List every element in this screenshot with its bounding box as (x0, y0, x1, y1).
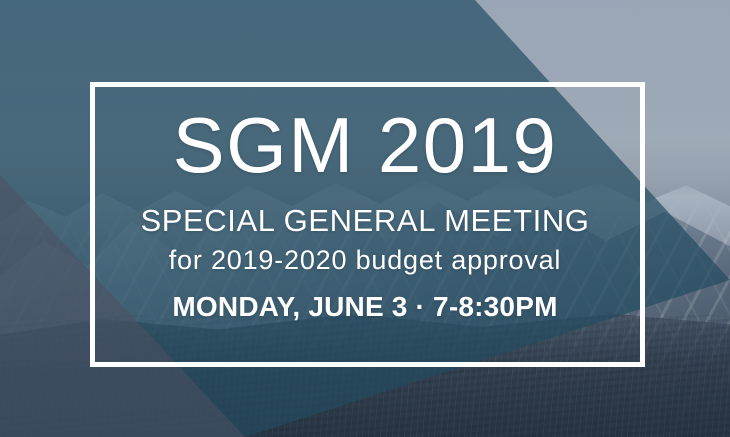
banner-datetime: MONDAY, JUNE 3 · 7-8:30PM (172, 293, 557, 321)
event-banner: SGM 2019 SPECIAL GENERAL MEETING for 201… (0, 0, 730, 437)
banner-subtitle: SPECIAL GENERAL MEETING (140, 205, 589, 236)
banner-text-block: SGM 2019 SPECIAL GENERAL MEETING for 201… (0, 0, 730, 437)
banner-tagline: for 2019-2020 budget approval (169, 247, 562, 274)
banner-title: SGM 2019 (173, 106, 558, 184)
